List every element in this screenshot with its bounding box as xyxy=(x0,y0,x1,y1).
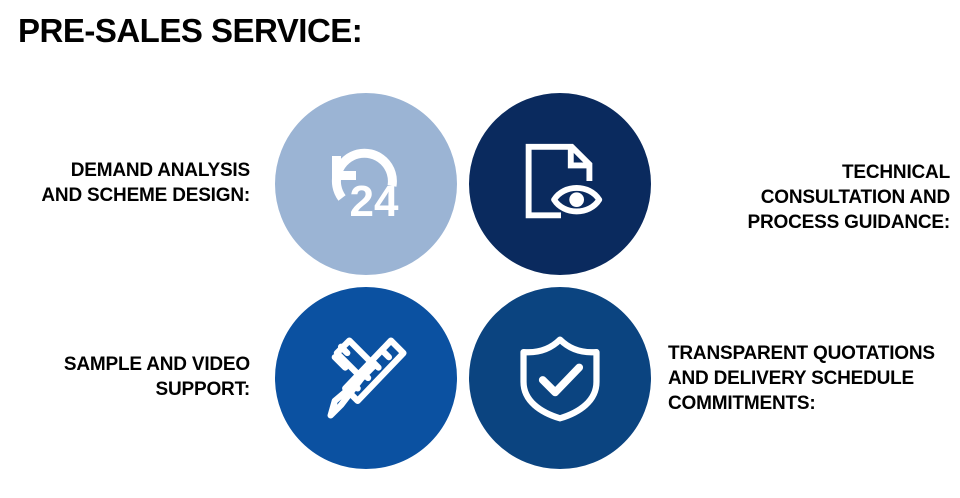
label-line: AND SCHEME DESIGN: xyxy=(10,183,250,208)
page-title: PRE-SALES SERVICE: xyxy=(18,12,362,50)
circle-transparent-quotations[interactable] xyxy=(460,278,660,478)
label-sample-video-support: SAMPLE AND VIDEO SUPPORT: xyxy=(10,352,250,402)
infographic-canvas: PRE-SALES SERVICE: DEMAND ANALYSIS AND S… xyxy=(0,0,960,498)
label-demand-analysis: DEMAND ANALYSIS AND SCHEME DESIGN: xyxy=(10,158,250,208)
label-line: DEMAND ANALYSIS xyxy=(10,158,250,183)
circle-technical-consultation[interactable] xyxy=(460,84,660,284)
label-line: AND DELIVERY SCHEDULE xyxy=(668,366,958,391)
label-technical-consultation: TECHNICAL CONSULTATION AND PROCESS GUIDA… xyxy=(722,160,950,235)
24-hour-rotate-icon: 24 xyxy=(316,134,416,234)
shield-check-icon xyxy=(512,330,608,426)
label-line: COMMITMENTS: xyxy=(668,391,958,416)
circle-demand-analysis[interactable]: 24 xyxy=(266,84,466,284)
circle-cluster: 24 xyxy=(266,84,666,484)
label-line: SAMPLE AND VIDEO xyxy=(10,352,250,377)
pencil-ruler-design-icon xyxy=(314,326,418,430)
label-line: PROCESS GUIDANCE: xyxy=(722,210,950,235)
label-line: SUPPORT: xyxy=(10,377,250,402)
label-transparent-quotations: TRANSPARENT QUOTATIONS AND DELIVERY SCHE… xyxy=(668,341,958,416)
label-line: CONSULTATION AND xyxy=(722,185,950,210)
circle-sample-video-support[interactable] xyxy=(266,278,466,478)
label-line: TRANSPARENT QUOTATIONS xyxy=(668,341,958,366)
document-eye-review-icon xyxy=(511,135,609,233)
svg-text:24: 24 xyxy=(350,177,399,226)
label-line: TECHNICAL xyxy=(722,160,950,185)
